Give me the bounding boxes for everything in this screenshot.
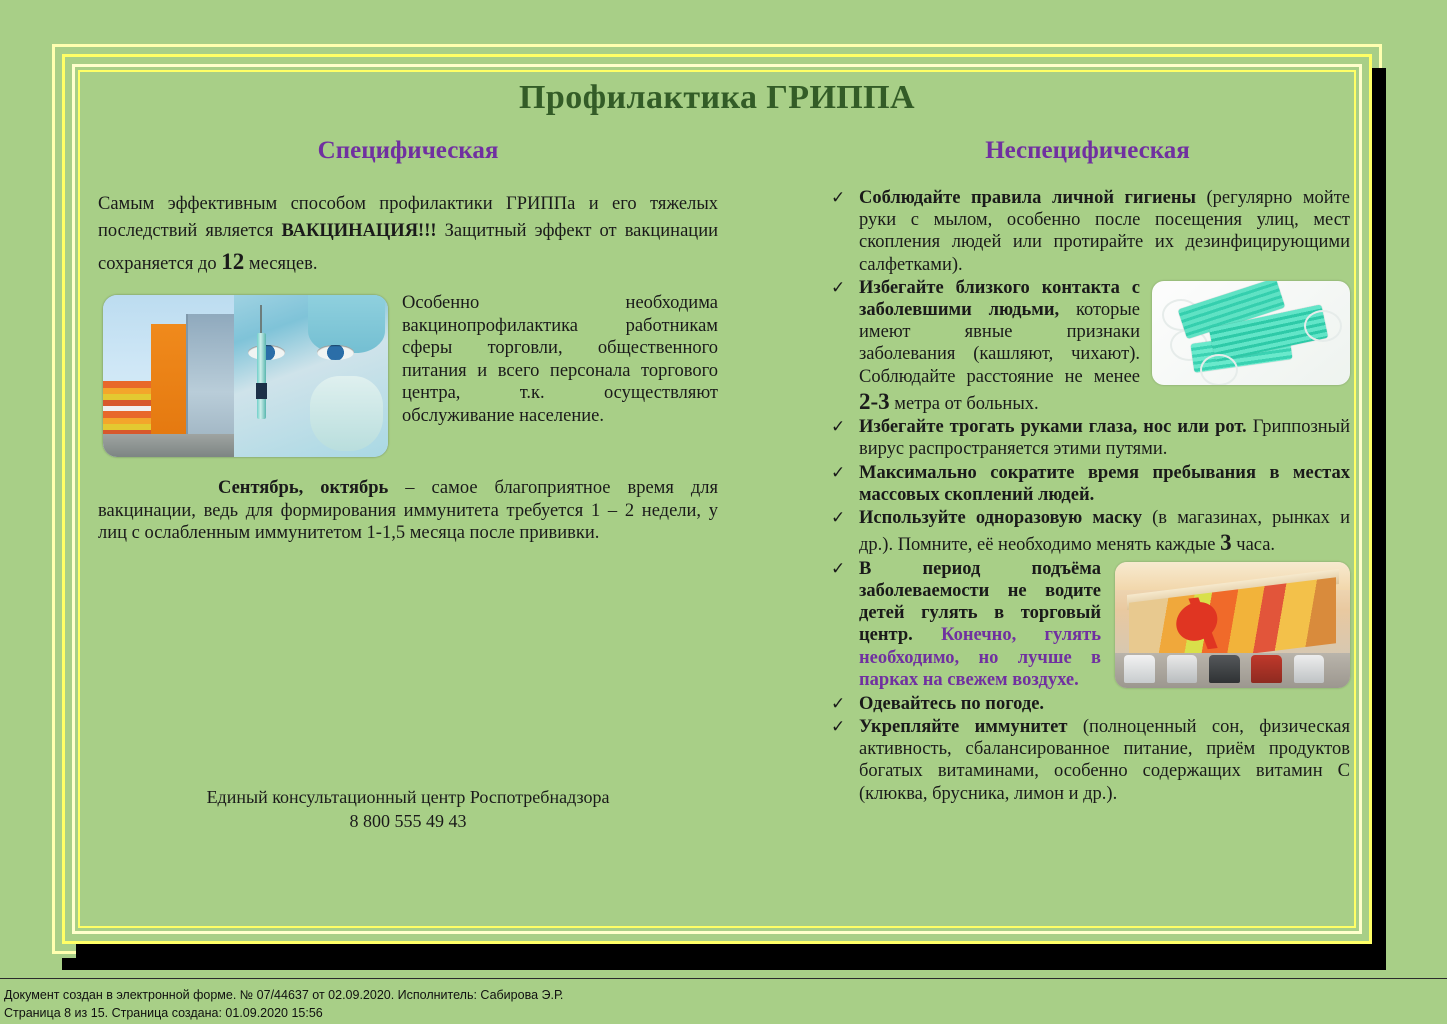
footer-line-2: Страница 8 из 15. Страница создана: 01.0… bbox=[4, 1004, 563, 1022]
parked-car bbox=[1251, 655, 1282, 683]
mall-logo bbox=[1176, 594, 1228, 653]
check-icon: ✓ bbox=[831, 717, 845, 737]
consultation-center-name: Единый консультационный центр Роспотребн… bbox=[98, 785, 718, 809]
photo-syringe bbox=[257, 305, 266, 444]
item-bold-text: Соблюдайте правила личной гигиены bbox=[859, 188, 1196, 208]
prevention-checklist: ✓ Соблюдайте правила личной гигиены (рег… bbox=[825, 187, 1350, 805]
check-icon: ✓ bbox=[831, 694, 845, 714]
item-bold-text: Используйте одноразовую маску bbox=[859, 508, 1142, 528]
item-bold-text: Максимально сократите время пребывания в… bbox=[859, 463, 1350, 505]
check-icon: ✓ bbox=[831, 417, 845, 437]
consultation-center-block: Единый консультационный центр Роспотребн… bbox=[98, 785, 718, 834]
syringe-barrel bbox=[257, 333, 266, 419]
vaccination-emphasis: ВАКЦИНАЦИЯ!!! bbox=[281, 221, 436, 241]
vaccination-intro-paragraph: Самым эффективным способом профилактики … bbox=[98, 191, 718, 278]
parked-car bbox=[1294, 655, 1325, 683]
consultation-phone-number: 8 800 555 49 43 bbox=[98, 809, 718, 833]
photo-left-eye bbox=[248, 345, 285, 360]
list-item: ✓ Максимально сократите время пребывания… bbox=[825, 462, 1350, 506]
list-item: ✓ В период подъёма заболеваемости не вод… bbox=[825, 558, 1350, 692]
photo-surgical-cap bbox=[308, 295, 385, 353]
poster-slide: Профилактика ГРИППА Специфическая Самым … bbox=[62, 54, 1372, 944]
list-item: ✓ Используйте одноразовую маску (в магаз… bbox=[825, 507, 1350, 557]
list-item: ✓ Соблюдайте правила личной гигиены (рег… bbox=[825, 187, 1350, 276]
footer-divider bbox=[0, 978, 1447, 979]
check-icon: ✓ bbox=[831, 188, 845, 208]
document-metadata-footer: Документ создан в электронной форме. № 0… bbox=[4, 986, 563, 1022]
list-item: ✓ Одевайтесь по погоде. bbox=[825, 693, 1350, 715]
page-title: Профилактика ГРИППА bbox=[65, 79, 1369, 117]
parked-car bbox=[1209, 655, 1240, 683]
left-column: Специфическая Самым эффективным способом… bbox=[98, 137, 718, 545]
distance-number: 2-3 bbox=[859, 389, 890, 414]
syringe-plunger bbox=[256, 383, 267, 400]
photo-and-text-block: Особенно необходима вакцинопрофилактика … bbox=[98, 292, 718, 463]
photo-mall-orange-tower bbox=[151, 324, 188, 444]
right-column: Неспецифическая ✓ Соблюдайте правила лич… bbox=[825, 137, 1350, 806]
parked-car bbox=[1167, 655, 1198, 683]
check-icon: ✓ bbox=[831, 508, 845, 528]
vaccination-timing-paragraph: Сентябрь, октябрь – самое благоприятное … bbox=[98, 477, 718, 545]
item-rest-text-2: часа. bbox=[1232, 535, 1275, 555]
left-column-heading: Специфическая bbox=[98, 137, 718, 165]
months-emphasis: Сентябрь, октябрь bbox=[218, 478, 388, 498]
surgical-masks-photo bbox=[1152, 281, 1350, 385]
photo-right-eye bbox=[317, 345, 354, 360]
list-item: ✓ Избегайте близкого контакта с заболевш… bbox=[825, 277, 1350, 416]
item-bold-text: Избегайте трогать руками глаза, нос или … bbox=[859, 417, 1247, 437]
photo-face-mask bbox=[310, 376, 384, 451]
footer-line-1: Документ создан в электронной форме. № 0… bbox=[4, 986, 563, 1004]
check-icon: ✓ bbox=[831, 278, 845, 298]
syringe-needle bbox=[260, 305, 262, 336]
shopping-mall-photo bbox=[1115, 562, 1350, 688]
right-column-heading: Неспецифическая bbox=[825, 137, 1350, 165]
mask-ear-loop bbox=[1200, 354, 1238, 385]
nurse-with-syringe-photo bbox=[103, 295, 388, 457]
item-bold-text: Укрепляйте иммунитет bbox=[859, 717, 1067, 737]
parked-car bbox=[1124, 655, 1155, 683]
list-item: ✓ Избегайте трогать руками глаза, нос ил… bbox=[825, 416, 1350, 460]
months-number: 12 bbox=[221, 249, 244, 274]
item-rest-text-2: метра от больных. bbox=[890, 394, 1039, 414]
intro-text-part3: месяцев. bbox=[244, 254, 317, 274]
list-item: ✓ Укрепляйте иммунитет (полноценный сон,… bbox=[825, 716, 1350, 805]
mask-ear-loop bbox=[1304, 310, 1342, 342]
check-icon: ✓ bbox=[831, 559, 845, 579]
check-icon: ✓ bbox=[831, 463, 845, 483]
hours-number: 3 bbox=[1220, 530, 1232, 555]
timing-text: – самое благоприятное время для вакцинац… bbox=[98, 478, 718, 543]
item-bold-text: Одевайтесь по погоде. bbox=[859, 694, 1044, 714]
slide-bottom-bar bbox=[62, 958, 1386, 970]
